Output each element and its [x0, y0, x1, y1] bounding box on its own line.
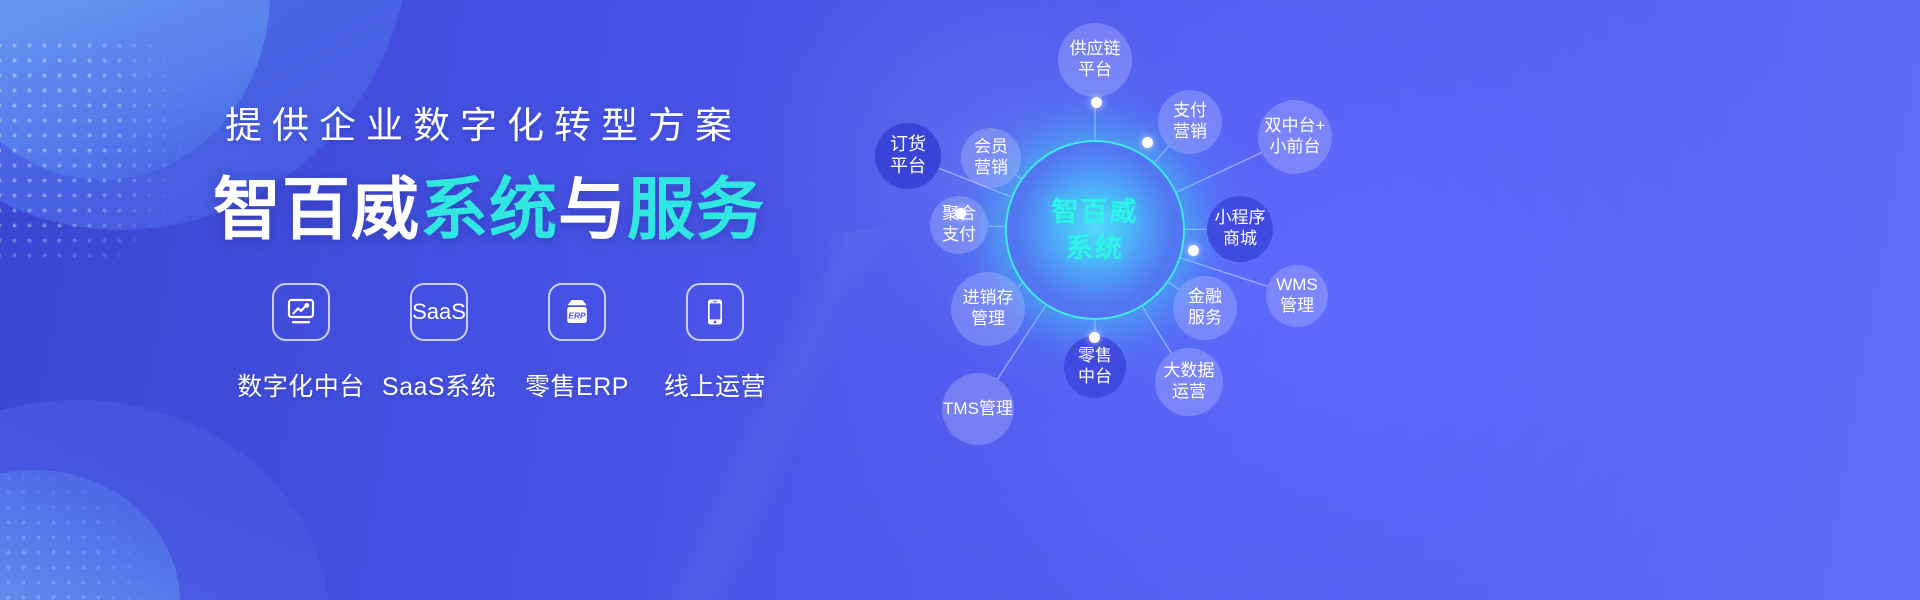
node-label-line: 订货 — [890, 134, 926, 156]
node-label-line: 平台 — [890, 156, 926, 178]
node-label-line: 服务 — [1188, 308, 1222, 329]
banner-stage: 提供企业数字化转型方案 智百威系统与服务 数字化中台SaaSSaaS系统ERP零… — [0, 0, 1920, 600]
headline-part-1: 系统 — [420, 172, 558, 248]
node-label-line: 平台 — [1078, 60, 1112, 81]
node-label-line: 金融 — [1188, 287, 1222, 308]
diagram-node-2[interactable]: 双中台+小前台 — [1258, 100, 1332, 174]
diagram-node-5[interactable]: 聚合支付 — [930, 196, 988, 254]
feature-label: SaaS系统 — [382, 367, 496, 403]
node-label-line: 管理 — [971, 309, 1005, 330]
connector-dot-0 — [1091, 97, 1102, 108]
svg-text:ERP: ERP — [568, 310, 586, 320]
node-label-line: TMS管理 — [943, 399, 1013, 420]
connector-line — [1154, 146, 1168, 162]
diagram-node-7[interactable]: WMS管理 — [1266, 265, 1328, 327]
diagram-node-12[interactable]: TMS管理 — [942, 373, 1014, 445]
feature-item-1[interactable]: SaaSSaaS系统 — [370, 283, 508, 403]
connector-line — [1016, 175, 1021, 179]
headline-part-2: 与 — [558, 172, 627, 248]
node-label-line: 零售 — [1078, 346, 1112, 367]
node-label-line: 支付 — [1173, 101, 1207, 122]
erp-box-icon: ERP — [548, 283, 606, 341]
node-label-line: 小程序 — [1215, 208, 1266, 229]
diagram-node-8[interactable]: 进销存管理 — [951, 272, 1025, 346]
banner-headline: 智百威系统与服务 — [213, 168, 853, 252]
diagram-node-1[interactable]: 支付营销 — [1158, 90, 1222, 154]
hub-label-line2: 系统 — [1066, 230, 1124, 266]
headline-block: 提供企业数字化转型方案 智百威系统与服务 数字化中台SaaSSaaS系统ERP零… — [0, 0, 900, 600]
system-node-diagram: 智百威 系统 供应链平台支付营销双中台+小前台订货平台会员营销聚合支付小程序商城… — [840, 0, 1920, 600]
node-label-line: 商城 — [1223, 229, 1257, 250]
node-label-line: WMS — [1276, 275, 1318, 296]
diagram-center-hub[interactable]: 智百威 系统 — [1007, 142, 1183, 318]
diagram-node-6[interactable]: 小程序商城 — [1207, 196, 1273, 262]
diagram-node-11[interactable]: 大数据运营 — [1155, 348, 1223, 416]
connector-line — [1142, 307, 1171, 354]
headline-part-3: 服务 — [627, 172, 765, 248]
diagram-node-0[interactable]: 供应链平台 — [1058, 23, 1132, 97]
feature-label: 零售ERP — [525, 367, 629, 403]
feature-item-2[interactable]: ERP零售ERP — [508, 283, 646, 403]
mobile-phone-icon — [686, 283, 744, 341]
headline-part-0: 智百威 — [213, 172, 420, 248]
node-label-line: 营销 — [1173, 122, 1207, 143]
node-label-line: 运营 — [1172, 382, 1206, 403]
connector-line — [988, 226, 1005, 227]
node-label-line: 小前台 — [1270, 137, 1321, 158]
node-label-line: 会员 — [974, 137, 1008, 158]
node-label-line: 营销 — [974, 158, 1008, 179]
feature-item-3[interactable]: 线上运营 — [646, 283, 784, 403]
diagram-node-10[interactable]: 零售中台 — [1064, 336, 1126, 398]
node-label-line: 进销存 — [963, 288, 1014, 309]
node-label-line: 供应链 — [1070, 39, 1121, 60]
diagram-node-9[interactable]: 金融服务 — [1173, 276, 1237, 340]
connector-line — [1177, 153, 1262, 192]
node-label-line: 管理 — [1280, 296, 1314, 317]
feature-label: 线上运营 — [664, 367, 766, 403]
chart-image-icon — [272, 283, 330, 341]
node-label-line: 大数据 — [1164, 361, 1215, 382]
feature-label: 数字化中台 — [237, 367, 365, 403]
connector-line — [1168, 282, 1178, 289]
connector-dot-3 — [1188, 245, 1199, 256]
connector-line — [1018, 283, 1023, 287]
diagram-node-4[interactable]: 会员营销 — [961, 128, 1021, 188]
saas-text-icon: SaaS — [410, 283, 468, 341]
feature-list: 数字化中台SaaSSaaS系统ERP零售ERP线上运营 — [232, 283, 784, 403]
connector-dot-4 — [1089, 332, 1100, 343]
node-label-line: 双中台+ — [1265, 116, 1326, 137]
saas-icon-text: SaaS — [412, 299, 466, 325]
hub-label-line1: 智百威 — [1052, 194, 1139, 230]
connector-dot-1 — [1142, 137, 1153, 148]
connector-dot-2 — [955, 208, 966, 219]
banner-subtitle: 提供企业数字化转型方案 — [225, 102, 825, 150]
node-label-line: 中台 — [1078, 367, 1112, 388]
node-label-line: 支付 — [942, 225, 976, 246]
feature-item-0[interactable]: 数字化中台 — [232, 283, 370, 403]
diagram-node-3[interactable]: 订货平台 — [875, 123, 941, 189]
